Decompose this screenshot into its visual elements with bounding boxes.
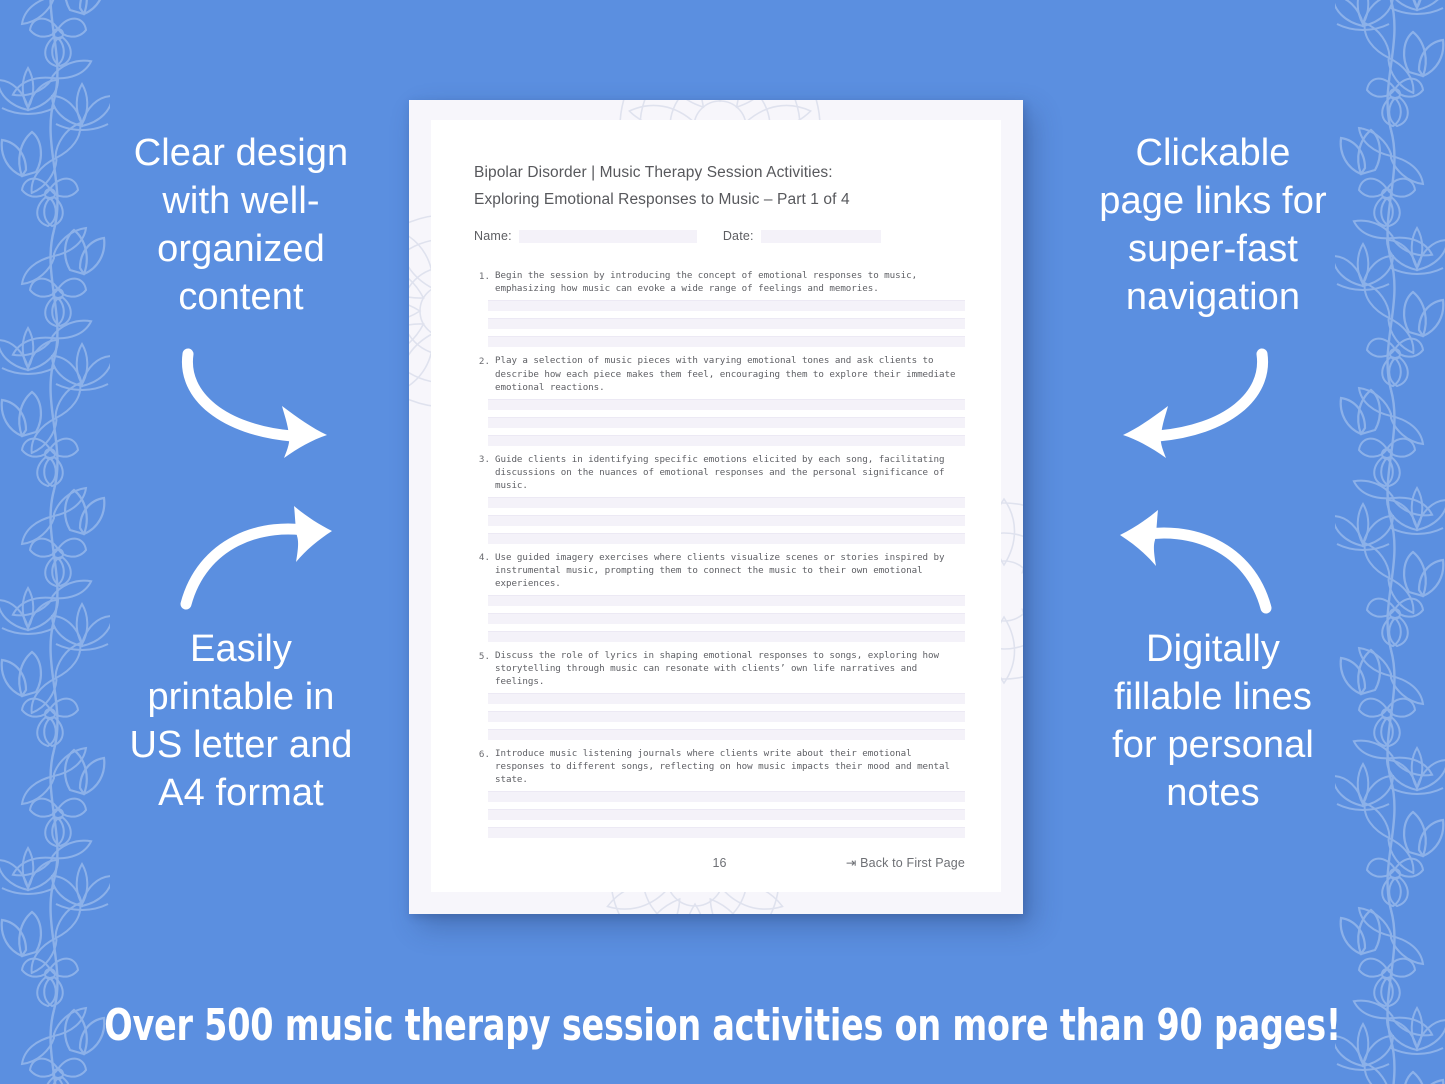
list-item: 3. Guide clients in identifying specific… [474, 453, 965, 544]
fillable-lines [474, 399, 965, 446]
fillable-line[interactable] [488, 729, 965, 740]
list-item-text: Use guided imagery exercises where clien… [495, 551, 965, 590]
fillable-line[interactable] [488, 300, 965, 311]
fillable-line[interactable] [488, 791, 965, 802]
promo-text-clear-design: Clear design with well- organized conten… [86, 130, 396, 322]
list-item-text: Discuss the role of lyrics in shaping em… [495, 649, 965, 688]
name-date-row: Name: Date: [474, 229, 965, 243]
fillable-lines [474, 693, 965, 740]
list-item: 2. Play a selection of music pieces with… [474, 354, 965, 445]
curved-arrow-right-icon [172, 348, 352, 458]
list-item: 5. Discuss the role of lyrics in shaping… [474, 649, 965, 740]
name-label: Name: [474, 229, 512, 243]
list-item-number: 3. [474, 453, 495, 467]
fillable-line[interactable] [488, 595, 965, 606]
list-item-number: 6. [474, 747, 495, 761]
activity-list: 1. Begin the session by introducing the … [474, 269, 965, 838]
worksheet-page-frame: Bipolar Disorder | Music Therapy Session… [409, 100, 1023, 914]
fillable-line[interactable] [488, 613, 965, 624]
curved-arrow-left-icon [1098, 348, 1278, 458]
fillable-line[interactable] [488, 399, 965, 410]
fillable-lines [474, 791, 965, 838]
fillable-line[interactable] [488, 318, 965, 329]
list-item-text: Introduce music listening journals where… [495, 747, 965, 786]
list-item-text: Play a selection of music pieces with va… [495, 354, 965, 393]
fillable-line[interactable] [488, 336, 965, 347]
curved-arrow-up-right-icon [176, 504, 356, 614]
fillable-line[interactable] [488, 497, 965, 508]
bottom-banner: Over 500 music therapy session activitie… [0, 966, 1445, 1084]
back-to-first-page-link[interactable]: ⇥ Back to First Page [846, 855, 965, 870]
fillable-line[interactable] [488, 693, 965, 704]
fillable-line[interactable] [488, 711, 965, 722]
fillable-line[interactable] [488, 631, 965, 642]
list-item: 6. Introduce music listening journals wh… [474, 747, 965, 838]
fillable-line[interactable] [488, 417, 965, 428]
list-item-number: 4. [474, 551, 495, 565]
list-item-text: Begin the session by introducing the con… [495, 269, 965, 295]
worksheet-title: Bipolar Disorder | Music Therapy Session… [474, 160, 965, 213]
list-item: 4. Use guided imagery exercises where cl… [474, 551, 965, 642]
date-input[interactable] [761, 230, 881, 243]
list-item-number: 1. [474, 269, 495, 283]
fillable-line[interactable] [488, 533, 965, 544]
fillable-lines [474, 497, 965, 544]
list-item-text: Guide clients in identifying specific em… [495, 453, 965, 492]
list-item: 1. Begin the session by introducing the … [474, 269, 965, 347]
fillable-line[interactable] [488, 435, 965, 446]
banner-text: Over 500 music therapy session activitie… [104, 1000, 1341, 1051]
worksheet-page: Bipolar Disorder | Music Therapy Session… [431, 120, 1001, 892]
fillable-line[interactable] [488, 827, 965, 838]
fillable-lines [474, 595, 965, 642]
fillable-lines [474, 300, 965, 347]
promo-text-clickable-links: Clickable page links for super-fast navi… [1053, 130, 1373, 322]
curved-arrow-up-left-icon [1096, 508, 1276, 618]
worksheet-footer: 16 ⇥ Back to First Page [474, 855, 965, 870]
date-label: Date: [723, 229, 754, 243]
list-item-number: 5. [474, 649, 495, 663]
fillable-line[interactable] [488, 515, 965, 526]
promo-text-fillable-lines: Digitally fillable lines for personal no… [1053, 626, 1373, 818]
name-input[interactable] [519, 230, 697, 243]
promo-text-printable: Easily printable in US letter and A4 for… [86, 626, 396, 818]
list-item-number: 2. [474, 354, 495, 368]
fillable-line[interactable] [488, 809, 965, 820]
poster-canvas: Clear design with well- organized conten… [0, 0, 1445, 1084]
